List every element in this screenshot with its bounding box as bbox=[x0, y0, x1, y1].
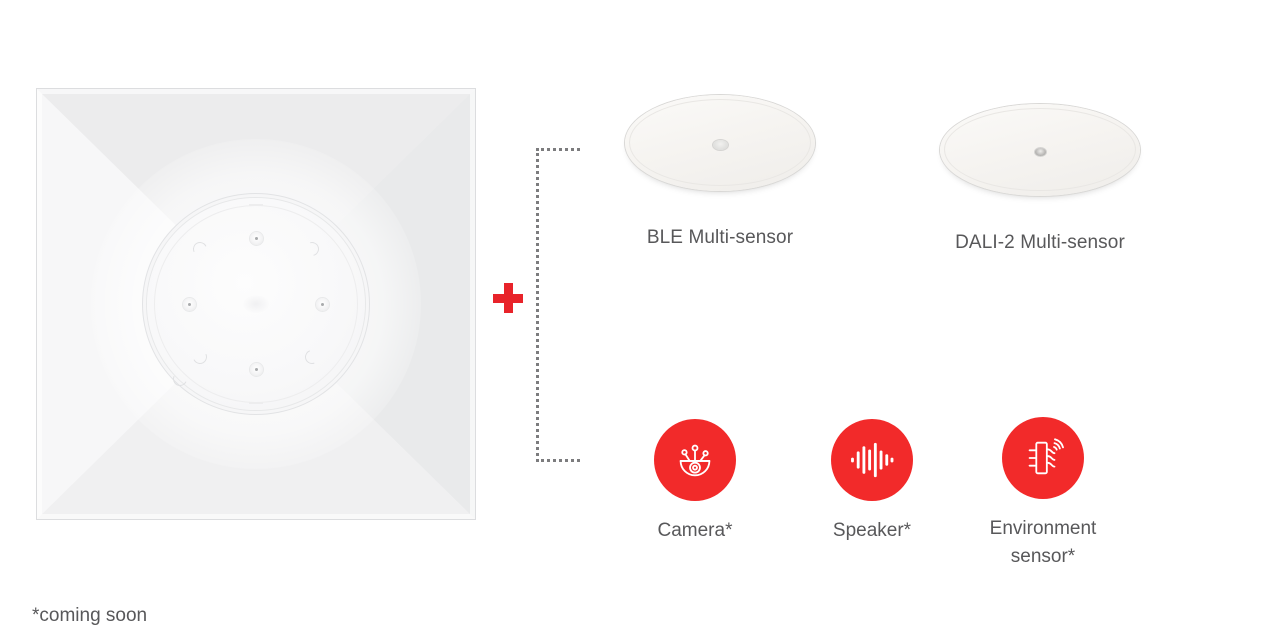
accessory-item-camera[interactable]: Camera* bbox=[615, 419, 775, 545]
mounting-screw-right bbox=[316, 298, 329, 311]
main-product-luminaire bbox=[36, 88, 476, 520]
footnote-coming-soon: *coming soon bbox=[32, 605, 147, 627]
mounting-screw-top bbox=[250, 232, 263, 245]
camera-icon bbox=[654, 419, 736, 501]
sensor-item-ble[interactable]: BLE Multi-sensor bbox=[625, 95, 815, 249]
luminaire-frame bbox=[36, 88, 476, 520]
pir-dome-icon bbox=[713, 140, 728, 150]
sensor-disc-dali2-icon bbox=[940, 104, 1140, 196]
pir-dome-small-icon bbox=[1035, 148, 1046, 156]
plate-notch-top bbox=[249, 204, 263, 206]
sensor-label-dali2: DALI-2 Multi-sensor bbox=[940, 232, 1140, 254]
sensor-label-ble: BLE Multi-sensor bbox=[625, 227, 815, 249]
luminaire-center-plate bbox=[147, 198, 365, 410]
center-plate-highlight bbox=[243, 295, 269, 313]
accessory-label-environment-sensor: Environment sensor* bbox=[963, 515, 1123, 571]
plus-icon bbox=[493, 283, 523, 313]
accessory-label-camera: Camera* bbox=[615, 517, 775, 545]
plate-notch-bottom bbox=[249, 402, 263, 404]
sensor-disc-ble-icon bbox=[625, 95, 815, 191]
dotted-bracket bbox=[536, 148, 580, 462]
accessory-item-speaker[interactable]: Speaker* bbox=[792, 419, 952, 545]
mounting-screw-left bbox=[183, 298, 196, 311]
mounting-screw-bottom bbox=[250, 363, 263, 376]
environment-sensor-icon bbox=[1002, 417, 1084, 499]
speaker-waveform-icon bbox=[831, 419, 913, 501]
accessory-item-environment-sensor[interactable]: Environment sensor* bbox=[963, 417, 1123, 571]
accessory-label-speaker: Speaker* bbox=[792, 517, 952, 545]
sensor-item-dali2[interactable]: DALI-2 Multi-sensor bbox=[940, 104, 1140, 254]
